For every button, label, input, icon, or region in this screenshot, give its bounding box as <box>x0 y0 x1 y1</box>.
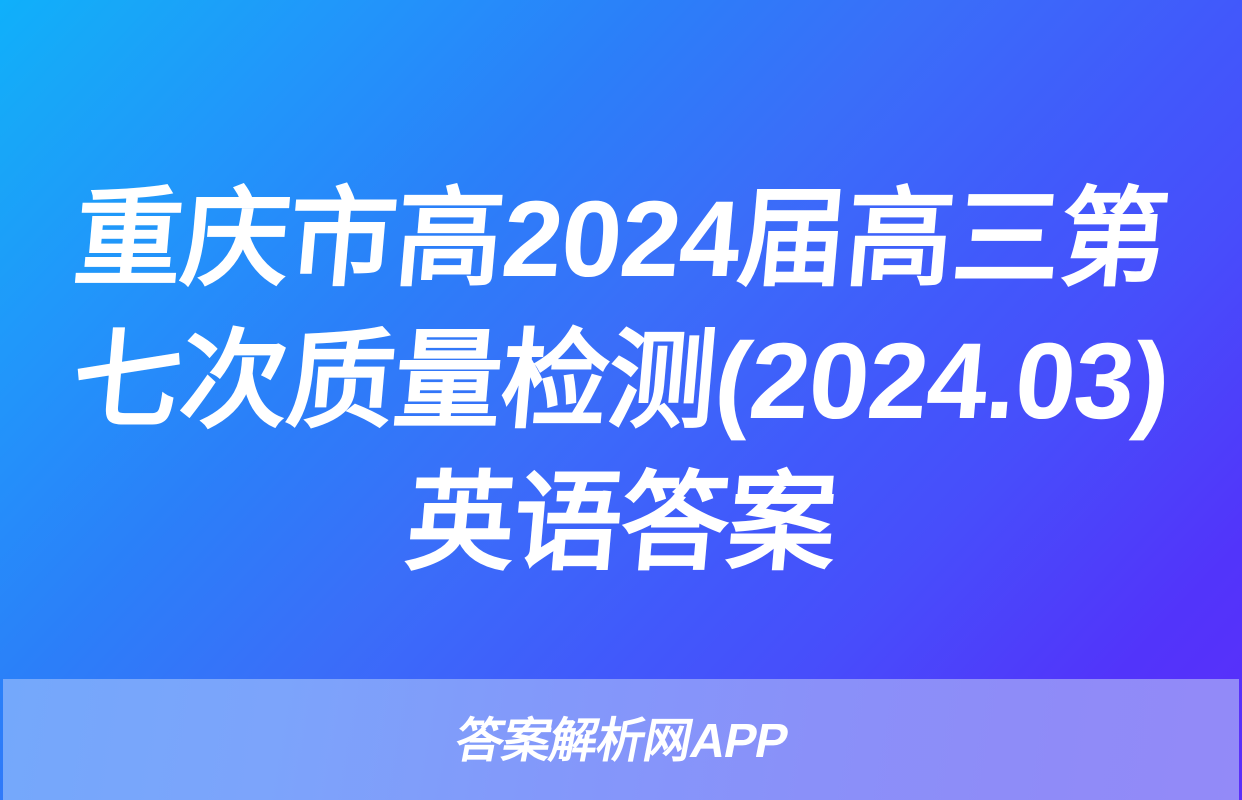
watermark-brand-label: 答案解析网APP <box>451 718 791 766</box>
page-title: 重庆市高2024届高三第 七次质量检测(2024.03) 英语答案 <box>0 168 1242 594</box>
title-line-2: 七次质量检测(2024.03) <box>0 310 1242 452</box>
title-line-3: 英语答案 <box>0 452 1242 594</box>
poster-card: 重庆市高2024届高三第 七次质量检测(2024.03) 英语答案 答案解析网A… <box>0 0 1242 800</box>
watermark-band: 答案解析网APP <box>3 679 1239 800</box>
title-line-1: 重庆市高2024届高三第 <box>0 168 1242 310</box>
